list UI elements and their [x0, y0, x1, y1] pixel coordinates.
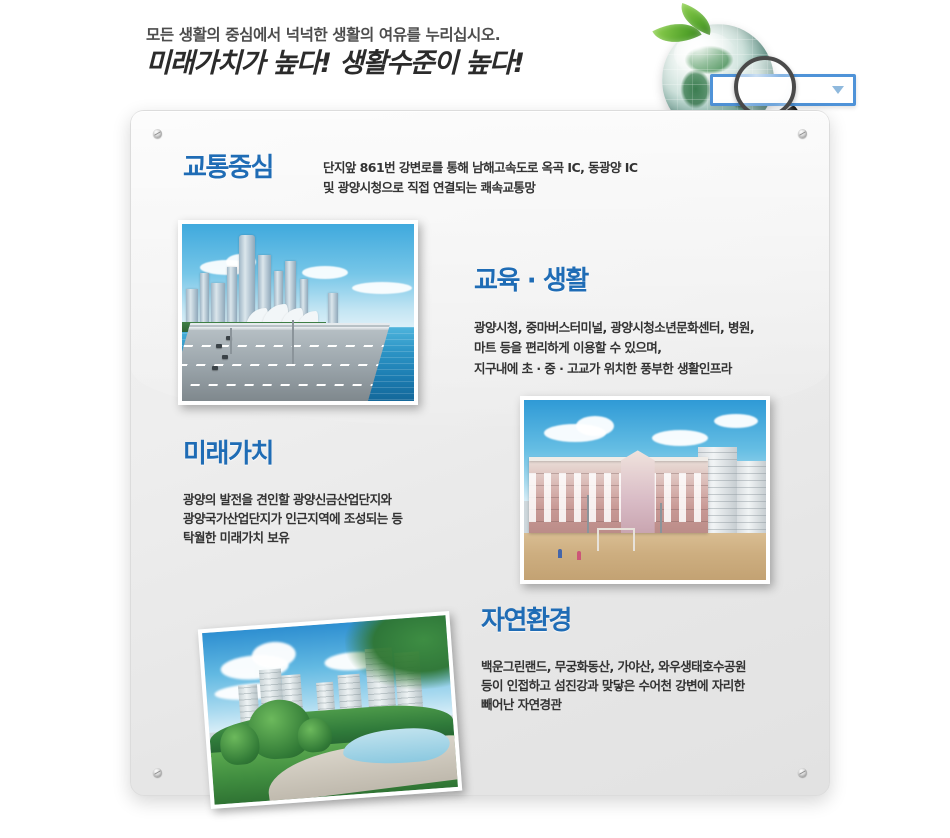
promo-page: 모든 생활의 중심에서 넉넉한 생활의 여유를 누리십시오. 미래가치가 높다!… [0, 0, 950, 838]
photo-park-content [202, 615, 458, 804]
school-entrance [621, 450, 655, 533]
cloud [302, 266, 348, 279]
photo-city-content [182, 224, 414, 401]
street-lamp [230, 328, 232, 354]
section-body-traffic: 단지앞 861번 강변로를 통해 남해고속도로 옥곡 IC, 동광양 IC 및 … [323, 158, 637, 199]
header-title: 미래가치가 높다! 생활수준이 높다! [146, 49, 706, 79]
chevron-down-icon[interactable] [832, 86, 844, 94]
photo-park [198, 611, 463, 809]
street-lamp [292, 320, 294, 364]
photo-school-content [524, 400, 766, 580]
screw-icon [153, 129, 162, 138]
photo-school [520, 396, 770, 584]
cloud [352, 282, 412, 294]
magnifier-lens [734, 56, 796, 118]
lane-marking [178, 384, 372, 386]
foreground-tree [342, 611, 460, 695]
building [211, 283, 225, 327]
cloud [652, 430, 708, 446]
school-building [529, 461, 708, 533]
building [186, 289, 198, 327]
building [227, 267, 237, 327]
car [212, 366, 218, 370]
school-roof [529, 457, 708, 461]
section-body-nature: 백운그린랜드, 무궁화동산, 가야산, 와우생태호수공원 등이 인접하고 섬진강… [481, 657, 746, 714]
flagpole [660, 503, 662, 533]
apartment-tower [737, 461, 766, 533]
building [200, 273, 209, 327]
person [577, 551, 581, 560]
cloud [714, 414, 758, 428]
cloud [576, 416, 614, 436]
flagpole [587, 495, 589, 533]
lane-marking [184, 345, 384, 347]
person [558, 549, 562, 558]
section-title-traffic: 교통중심 [183, 155, 273, 182]
screw-icon [798, 129, 807, 138]
bridge-rail [188, 327, 388, 330]
car [216, 344, 222, 348]
car [222, 355, 228, 359]
section-title-future: 미래가치 [183, 441, 273, 468]
screw-icon [153, 768, 162, 777]
photo-city-bridge [178, 220, 418, 405]
building [328, 293, 338, 327]
section-body-future: 광양의 발전을 견인할 광양신금산업단지와 광양국가산업단지가 인근지역에 조성… [183, 490, 402, 547]
highway-bridge [178, 323, 390, 401]
lane-marking [178, 365, 378, 367]
screw-icon [798, 768, 807, 777]
section-body-education: 광양시청, 중마버스터미널, 광양시청소년문화센터, 병원, 마트 등을 편리하… [474, 318, 754, 379]
soccer-goal [597, 528, 636, 551]
header-block: 모든 생활의 중심에서 넉넉한 생활의 여유를 누리십시오. 미래가치가 높다!… [146, 26, 706, 79]
section-title-nature: 자연환경 [481, 608, 571, 635]
section-title-education: 교육 · 생활 [474, 268, 588, 295]
header-subtitle: 모든 생활의 중심에서 넉넉한 생활의 여유를 누리십시오. [146, 26, 706, 45]
